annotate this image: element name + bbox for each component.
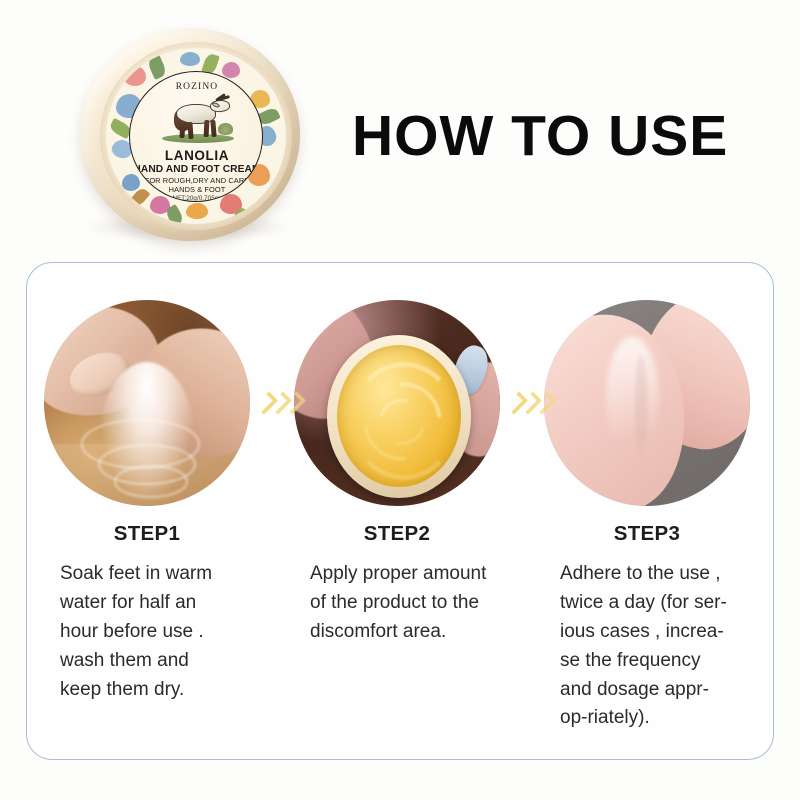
product-claim-2: HANDS & FOOT — [130, 185, 263, 194]
product-claim-1: FOR ROUGH,DRY AND CARE — [130, 176, 263, 185]
step-2-text: Apply proper amount of the product to th… — [294, 560, 500, 647]
step-1-label: STEP1 — [44, 522, 250, 546]
step-1: STEP1 Soak feet in warm water for half a… — [44, 300, 250, 704]
product-net-weight: NET:20g/0.705oz — [130, 195, 263, 202]
step-2: STEP2 Apply proper amount of the product… — [294, 300, 500, 647]
step-3: STEP3 Adhere to the use , twice a day (f… — [544, 300, 750, 733]
step-1-photo — [44, 300, 250, 506]
step-2-photo — [294, 300, 500, 506]
goat-illustration — [160, 93, 236, 145]
jar-lid: ROZINO LANOLIA HAND AND FOOT CRE — [80, 28, 300, 241]
yellow-cream — [337, 345, 461, 487]
page-title: HOW TO USE — [352, 108, 732, 165]
step-3-text: Adhere to the use , twice a day (for ser… — [544, 560, 750, 733]
skin-sheen — [606, 337, 660, 456]
step-3-label: STEP3 — [544, 522, 750, 546]
step-1-text: Soak feet in warm water for half an hour… — [44, 560, 250, 704]
product-jar-image: ROZINO LANOLIA HAND AND FOOT CRE — [74, 26, 306, 251]
step-3-photo — [544, 300, 750, 506]
product-subtitle: HAND AND FOOT CREAM — [130, 164, 263, 175]
header: ROZINO LANOLIA HAND AND FOOT CRE — [0, 0, 800, 258]
step-2-label: STEP2 — [294, 522, 500, 546]
goat-ground — [162, 134, 234, 143]
product-name: LANOLIA — [130, 148, 263, 163]
jar-label: ROZINO LANOLIA HAND AND FOOT CRE — [129, 71, 263, 202]
goat-bush — [218, 123, 233, 135]
product-brand: ROZINO — [130, 82, 263, 92]
